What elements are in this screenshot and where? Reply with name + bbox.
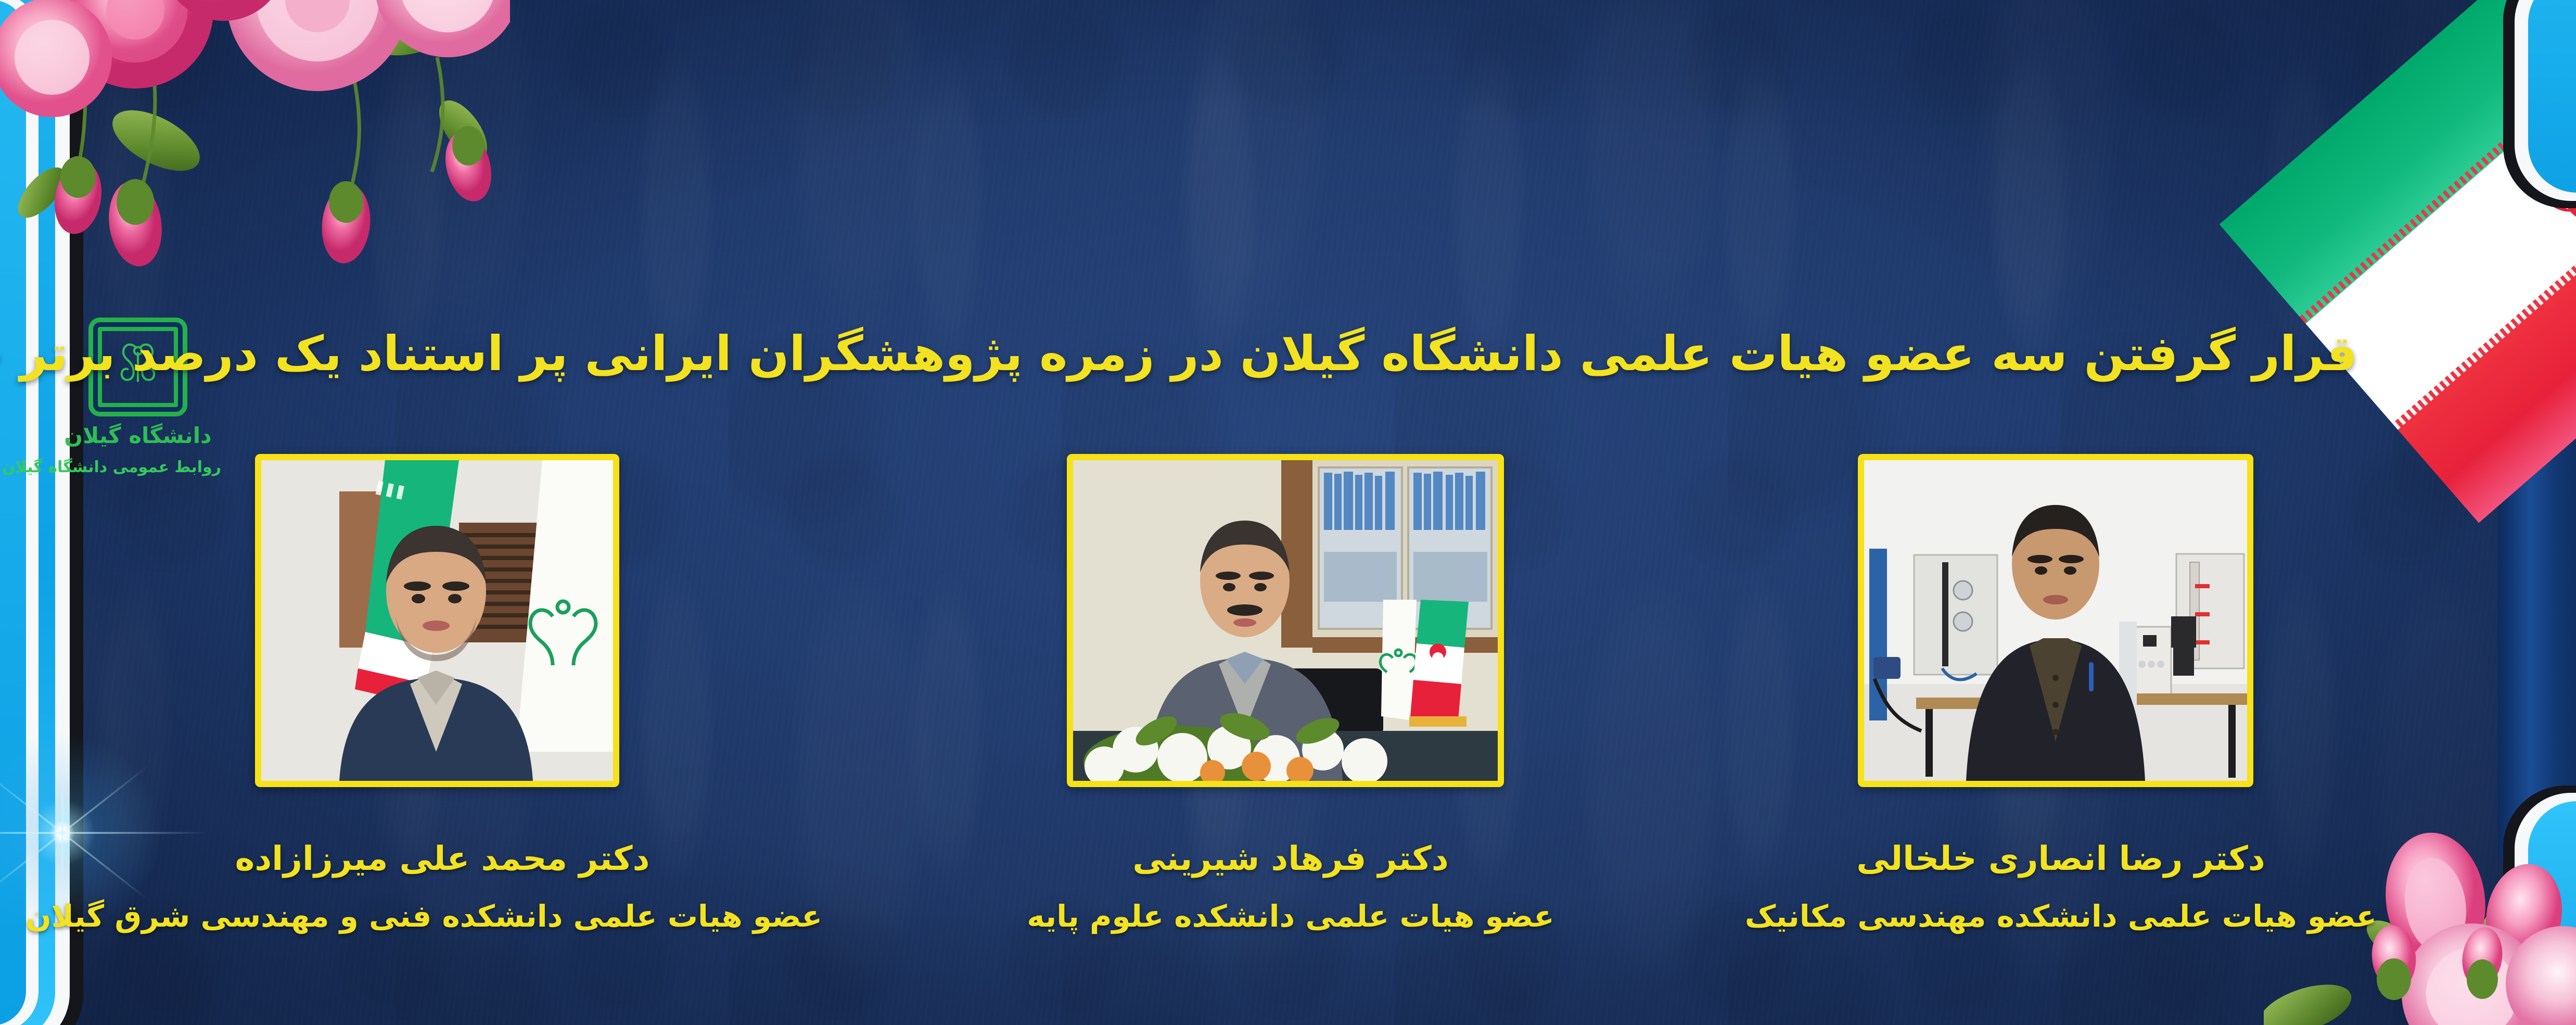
person-role-2: عضو هیات علمی دانشکده علوم پایه (958, 897, 1624, 935)
caption-ansari-khalkhali: دکتر رضا انصاری خلخالی عضو هیات علمی دان… (1691, 838, 2430, 935)
person-role-1: عضو هیات علمی دانشکده فنی و مهندسی شرق گ… (62, 897, 822, 935)
photo-card-mirzazadeh[interactable] (255, 454, 619, 787)
caption-shirini: دکتر فرهاد شیرینی عضو هیات علمی دانشکده … (958, 838, 1624, 935)
person-name-1: دکتر محمد علی میرزازاده (62, 838, 822, 880)
person-name-2: دکتر فرهاد شیرینی (958, 838, 1624, 880)
banner-canvas: دانشگاه گیلان روابط عمومی دانشگاه گیلان … (0, 0, 2576, 1025)
caption-mirzazadeh: دکتر محمد علی میرزازاده عضو هیات علمی دا… (62, 838, 822, 935)
banner-headline: قرار گرفتن سه عضو هیات علمی دانشگاه گیلا… (0, 327, 2576, 381)
portrait-mirzazadeh (255, 454, 619, 787)
logo-university-name: دانشگاه گیلان (55, 425, 221, 447)
person-role-3: عضو هیات علمی دانشکده مهندسی مکانیک (1691, 897, 2430, 935)
portrait-ansari-khalkhali (1858, 454, 2253, 787)
person-name-3: دکتر رضا انصاری خلخالی (1691, 838, 2430, 880)
portrait-shirini (1067, 454, 1504, 787)
photo-card-shirini[interactable] (1067, 454, 1504, 787)
photo-card-ansari-khalkhali[interactable] (1858, 454, 2253, 787)
photo-row (0, 454, 2576, 792)
